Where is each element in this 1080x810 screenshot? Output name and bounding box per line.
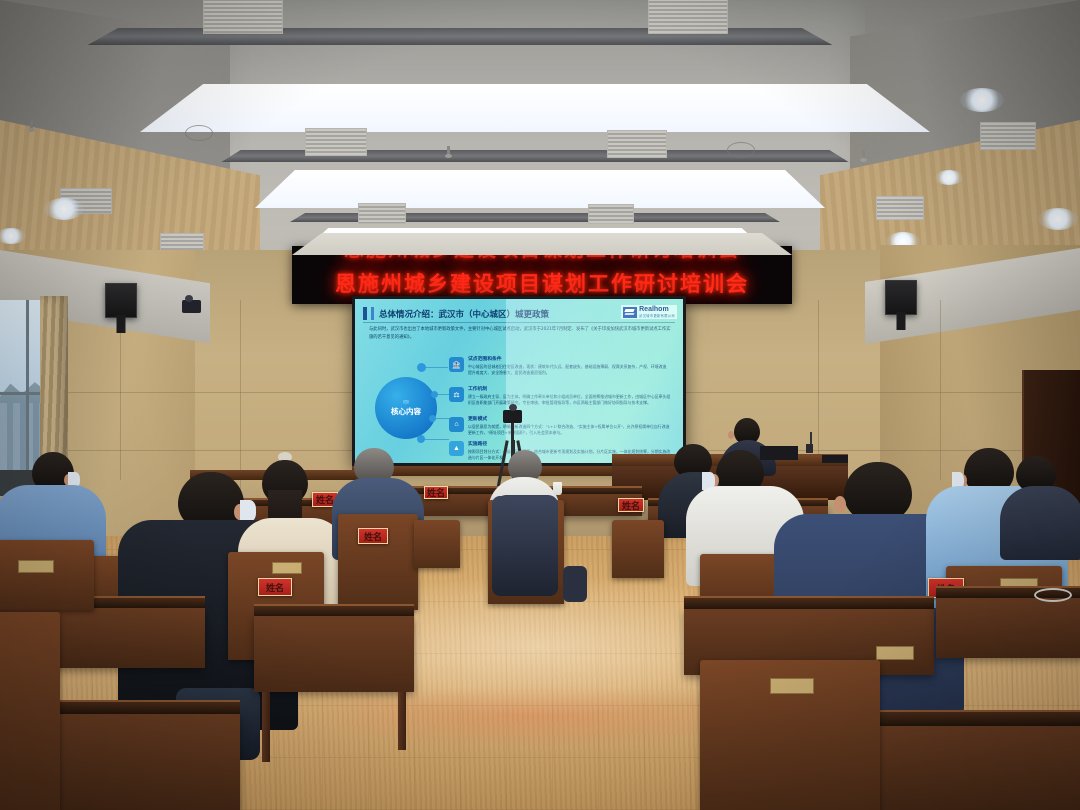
ceiling-light-panel <box>140 84 930 132</box>
hvac-vent-icon <box>305 128 367 156</box>
wall-speaker-icon <box>885 280 917 315</box>
slide-accent-bar <box>371 307 374 320</box>
headphones <box>1034 588 1072 602</box>
hvac-vent-icon <box>980 122 1036 150</box>
hvac-vent-icon <box>203 0 283 34</box>
fire-sprinkler-icon <box>447 146 450 155</box>
downlight-icon <box>935 170 963 185</box>
chair-nameplate <box>770 678 814 694</box>
paper-cup <box>553 482 562 495</box>
desk-leg <box>262 692 270 762</box>
name-placard: 姓名 <box>258 578 292 596</box>
chair-back <box>414 520 460 568</box>
road-icon: ▲ <box>449 441 464 456</box>
fire-sprinkler-icon <box>862 150 865 159</box>
presentation-slide: 总体情况介绍：武汉市（中心城区）城更政策 Realhom 武汉城市更新有限公司 … <box>355 299 683 463</box>
desk-nameplate <box>876 646 914 660</box>
downlight-icon <box>1038 208 1078 230</box>
slide-core-circle: （四） 核心内容 <box>375 377 437 439</box>
presenter-laptop <box>760 446 798 460</box>
desk-mid-front-body <box>254 616 414 692</box>
bag-on-chair <box>563 566 587 602</box>
slide-core-circle-sub: （四） <box>401 400 412 405</box>
ceiling-fixture <box>727 142 755 158</box>
wall-speaker-icon <box>105 283 137 318</box>
wall-seam <box>240 300 241 490</box>
chair-drape <box>492 496 558 596</box>
house-icon: ⌂ <box>449 417 464 432</box>
downlight-icon <box>960 88 1004 112</box>
hvac-vent-icon <box>876 196 924 220</box>
slide-node-dot <box>431 391 438 398</box>
ceiling-fixture <box>185 125 213 141</box>
slide-accent-bar <box>363 307 367 320</box>
hvac-vent-icon <box>588 204 634 224</box>
screen-glare <box>506 299 683 463</box>
desk-leg <box>398 692 406 750</box>
slide-node-dot <box>429 415 436 422</box>
desk-equipment <box>822 455 848 463</box>
wall-seam <box>940 300 941 480</box>
fire-sprinkler-icon <box>30 120 33 129</box>
camera-lens-icon <box>509 404 517 411</box>
chair-back <box>612 520 664 578</box>
chair-nameplate <box>18 560 54 573</box>
downlight-icon <box>44 198 84 220</box>
chair-back-foreground-left <box>0 612 60 810</box>
conference-room-photo: 恩施州城乡建设项目谋划工作研讨培训会 恩施州城乡建设项目谋划工作研讨培训会 总体… <box>0 0 1080 810</box>
ceiling-light-panel <box>255 170 825 208</box>
slide-node-dot <box>417 363 426 372</box>
hvac-vent-icon <box>607 130 667 158</box>
led-banner-overhang <box>292 233 792 255</box>
chair-nameplate <box>272 562 302 574</box>
video-camera <box>503 410 522 423</box>
bank-icon: 🏦 <box>449 357 464 372</box>
name-placard: 姓名 <box>424 486 448 499</box>
hvac-vent-icon <box>648 0 728 34</box>
desk-far-right-body <box>936 598 1080 658</box>
balance-icon: ⚖ <box>449 387 464 402</box>
chair-back <box>0 540 94 610</box>
name-placard: 姓名 <box>358 528 388 544</box>
slide-core-circle-label: 核心内容 <box>391 406 421 417</box>
surveillance-camera-icon <box>182 300 201 313</box>
led-banner-main-line: 恩施州城乡建设项目谋划工作研讨培训会 <box>292 268 792 298</box>
name-placard: 姓名 <box>618 498 644 512</box>
microphone-icon <box>806 444 813 453</box>
hvac-vent-icon <box>358 203 406 224</box>
slide-node-dot <box>417 435 425 443</box>
